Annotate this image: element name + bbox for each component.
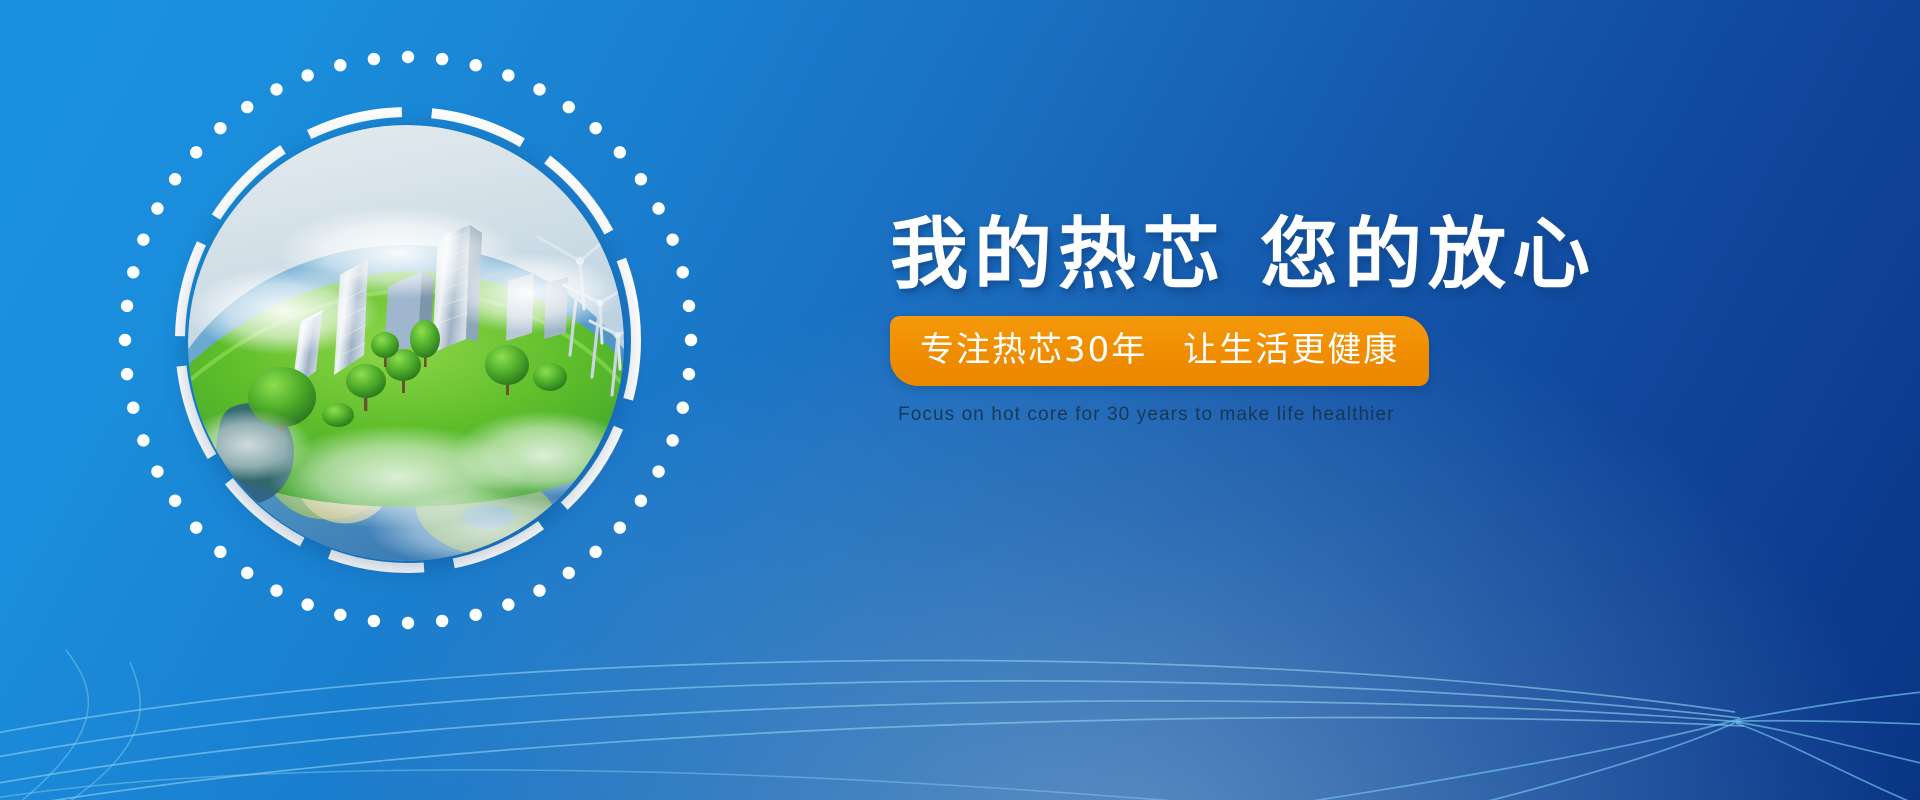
earth-emblem bbox=[118, 50, 698, 630]
banner-copy: 我的热芯您的放心 专注热芯30年 让生活更健康 Focus on hot cor… bbox=[890, 215, 1650, 426]
status-badge: 专注热芯30年 让生活更健康 bbox=[890, 316, 1429, 386]
page-title: 我的热芯您的放心 bbox=[890, 215, 1650, 296]
hero-banner: 我的热芯您的放心 专注热芯30年 让生活更健康 Focus on hot cor… bbox=[0, 0, 1920, 800]
globe-photo bbox=[188, 125, 624, 561]
headline-part-1: 我的热芯 bbox=[890, 210, 1226, 300]
badge-row: 专注热芯30年 让生活更健康 bbox=[890, 316, 1650, 386]
headline-part-2: 您的放心 bbox=[1260, 210, 1596, 300]
english-subtitle: Focus on hot core for 30 years to make l… bbox=[898, 404, 1650, 426]
